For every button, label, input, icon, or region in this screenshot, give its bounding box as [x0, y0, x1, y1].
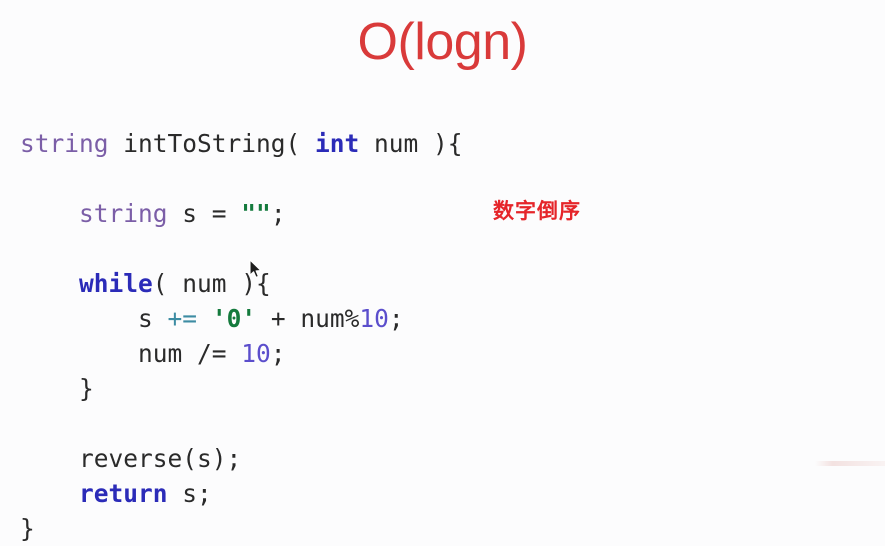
code-line: num /= 10; — [20, 336, 463, 371]
code-token-plain: s = — [168, 199, 242, 228]
code-token-plain: } — [79, 374, 94, 403]
code-token-str: '0' — [212, 304, 256, 333]
code-token-type: string — [20, 129, 109, 158]
code-token-kw: while — [79, 269, 153, 298]
code-token-op: += — [168, 304, 198, 333]
code-line: string s = ""; — [20, 196, 463, 231]
code-token-plain: } — [20, 514, 35, 543]
code-line: while( num ){ — [20, 266, 463, 301]
code-line: ​ — [20, 231, 463, 266]
code-line: ​ — [20, 161, 463, 196]
code-token-plain: ; — [389, 304, 404, 333]
code-token-plain: num /= — [138, 339, 241, 368]
page-title: O(logn) — [0, 14, 885, 71]
code-line: string intToString( int num ){ — [20, 126, 463, 161]
code-line: reverse(s); — [20, 441, 463, 476]
code-token-plain — [197, 304, 212, 333]
code-token-plain: ; — [271, 339, 286, 368]
code-token-plain: s; — [168, 479, 212, 508]
code-token-kw: return — [79, 479, 168, 508]
code-token-plain: ( num ){ — [153, 269, 271, 298]
code-token-num: 10 — [359, 304, 389, 333]
code-line: } — [20, 511, 463, 546]
code-token-str: "" — [241, 199, 271, 228]
code-line: return s; — [20, 476, 463, 511]
code-block: string intToString( int num ){​ string s… — [20, 126, 463, 546]
code-token-plain: + num% — [256, 304, 359, 333]
code-token-plain: reverse(s); — [79, 444, 241, 473]
code-token-type: string — [79, 199, 168, 228]
code-line: s += '0' + num%10; — [20, 301, 463, 336]
edge-artifact — [815, 461, 885, 466]
code-token-plain: s — [138, 304, 168, 333]
code-token-plain: intToString( — [109, 129, 316, 158]
code-token-plain: num ){ — [359, 129, 462, 158]
slide-canvas: O(logn) string intToString( int num ){​ … — [0, 0, 885, 466]
code-line: ​ — [20, 406, 463, 441]
code-line: } — [20, 371, 463, 406]
code-token-num: 10 — [241, 339, 271, 368]
annotation-label: 数字倒序 — [493, 195, 581, 225]
code-token-kw: int — [315, 129, 359, 158]
code-token-plain: ; — [271, 199, 286, 228]
